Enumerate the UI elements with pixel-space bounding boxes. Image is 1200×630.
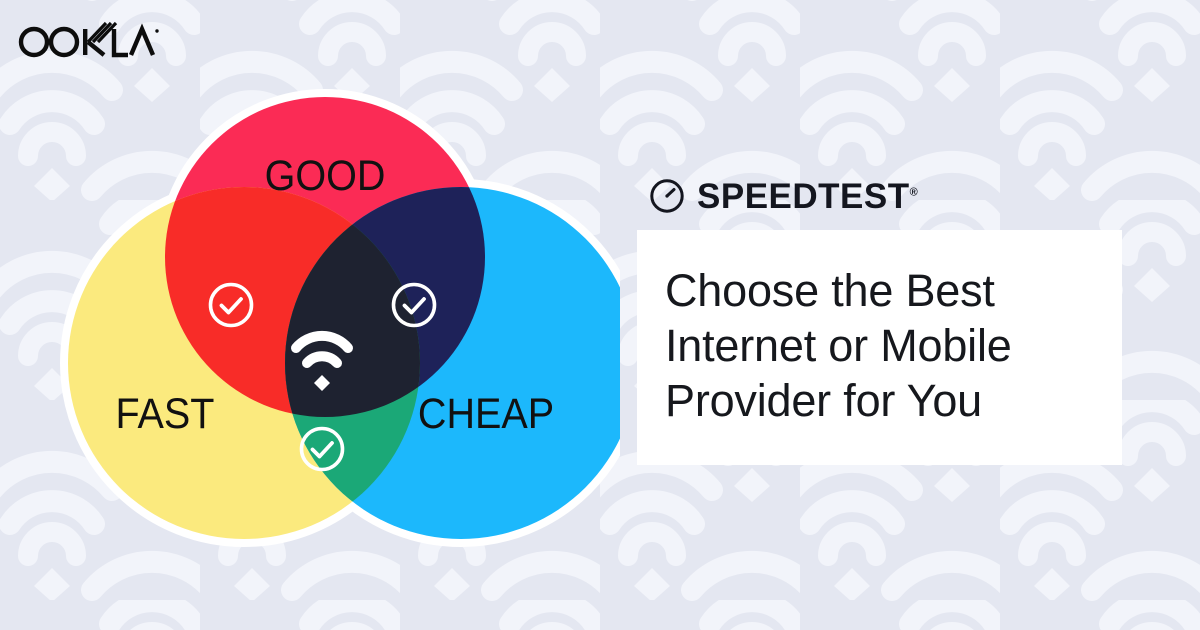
headline-line-3: Provider for You bbox=[665, 375, 982, 426]
promo-text-column: SPEEDTEST® Choose the Best Internet or M… bbox=[637, 170, 1122, 465]
speedometer-icon bbox=[649, 178, 685, 214]
page-headline: Choose the Best Internet or Mobile Provi… bbox=[665, 264, 1094, 429]
headline-line-1: Choose the Best bbox=[665, 265, 995, 316]
venn-label-fast: FAST bbox=[116, 389, 215, 437]
venn-label-cheap: CHEAP bbox=[418, 389, 554, 437]
promo-canvas: GOOD FAST CHEAP bbox=[0, 0, 1200, 630]
speedtest-logo[interactable]: SPEEDTEST® bbox=[637, 170, 1122, 222]
headline-line-2: Internet or Mobile bbox=[665, 320, 1012, 371]
speedtest-registered-mark: ® bbox=[910, 186, 919, 198]
venn-diagram: GOOD FAST CHEAP bbox=[40, 50, 620, 590]
headline-card: Choose the Best Internet or Mobile Provi… bbox=[637, 230, 1122, 465]
speedtest-wordmark: SPEEDTEST® bbox=[697, 179, 918, 214]
speedtest-wordmark-text: SPEEDTEST bbox=[697, 177, 910, 216]
venn-label-good: GOOD bbox=[265, 151, 386, 199]
